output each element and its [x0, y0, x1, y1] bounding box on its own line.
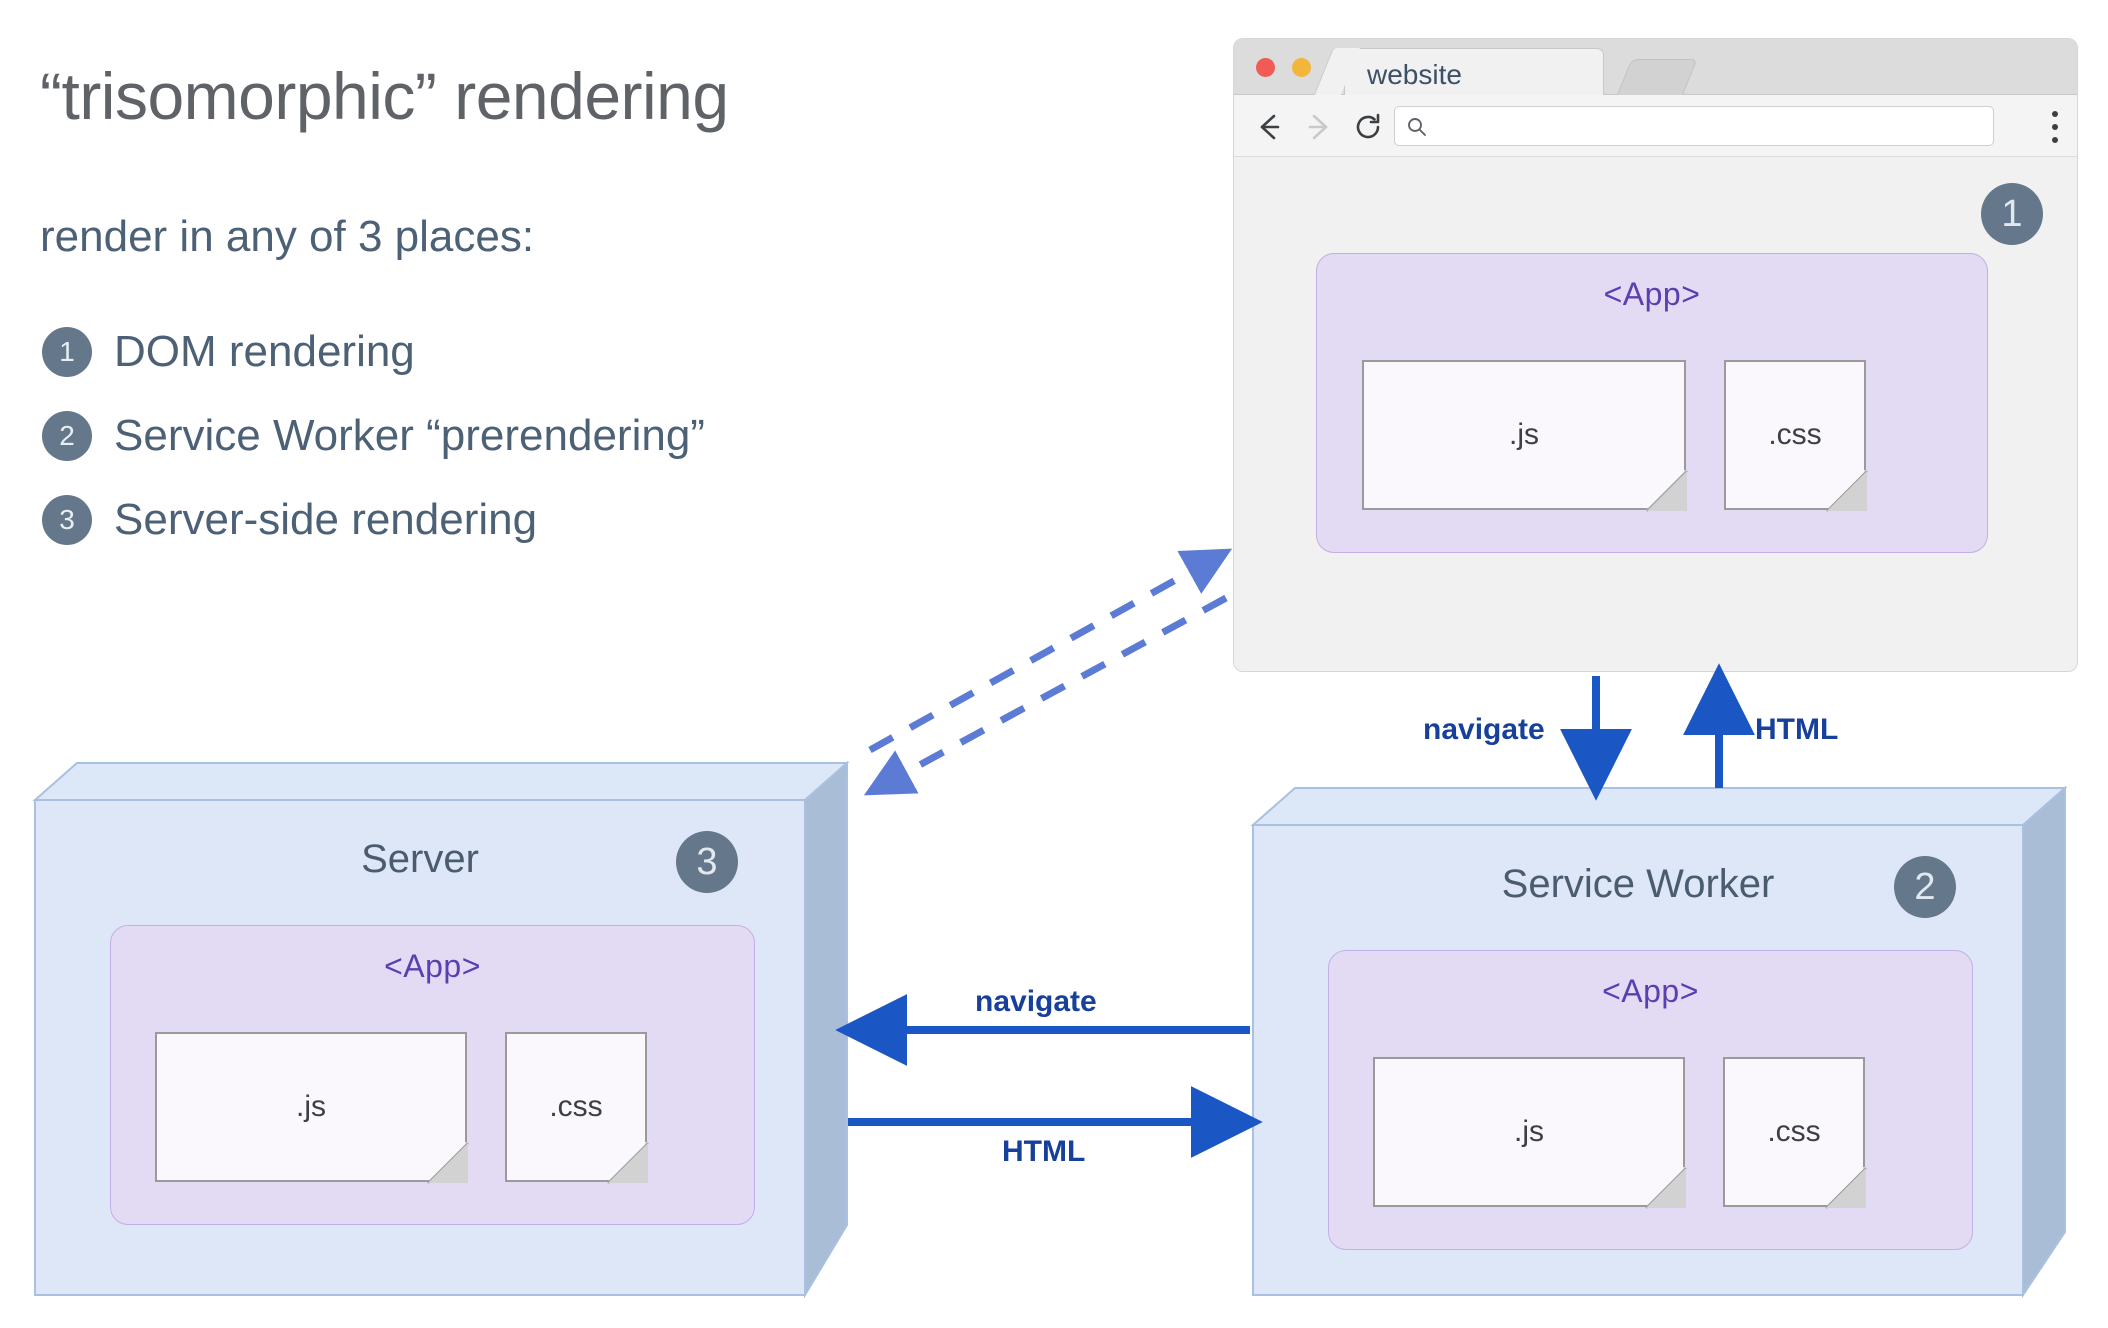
- js-document-card: .js: [1373, 1057, 1683, 1205]
- list-item: 3 Server-side rendering: [42, 478, 705, 562]
- step-badge-service-worker: 2: [1894, 856, 1956, 918]
- server-box: Server 3 <App> .js .css: [35, 755, 847, 1295]
- app-panel-service-worker: <App> .js .css: [1328, 950, 1973, 1250]
- list-number-badge: 1: [42, 327, 92, 377]
- search-icon: [1406, 116, 1428, 138]
- js-document-card: .js: [155, 1032, 465, 1180]
- browser-window: website: [1233, 38, 2078, 672]
- back-arrow-icon[interactable]: [1254, 111, 1286, 143]
- app-panel-label: <App>: [111, 926, 754, 985]
- minimize-window-light[interactable]: [1292, 58, 1311, 77]
- js-document-label: .js: [1514, 1115, 1544, 1149]
- arrow-label-html-mid: HTML: [1002, 1135, 1085, 1169]
- document-group: .js .css: [1373, 1057, 1863, 1205]
- css-document-label: .css: [549, 1090, 602, 1124]
- render-places-list: 1 DOM rendering 2 Service Worker “preren…: [42, 310, 705, 562]
- browser-tabstrip: website: [1234, 39, 2077, 95]
- browser-tab-inactive[interactable]: [1617, 59, 1698, 96]
- list-item: 1 DOM rendering: [42, 310, 705, 394]
- css-document-label: .css: [1768, 418, 1821, 452]
- browser-tab-label: website: [1367, 59, 1462, 91]
- app-panel-label: <App>: [1317, 254, 1987, 313]
- list-number-badge: 2: [42, 411, 92, 461]
- css-document-card: .css: [1723, 1057, 1863, 1205]
- arrow-label-navigate-top: navigate: [1423, 713, 1545, 747]
- app-panel-browser: <App> .js: [1316, 253, 1988, 553]
- arrow-label-navigate-mid: navigate: [975, 985, 1097, 1019]
- list-number-badge: 3: [42, 495, 92, 545]
- diagram-canvas: “trisomorphic” rendering render in any o…: [0, 0, 2108, 1328]
- list-item-label: DOM rendering: [114, 327, 415, 377]
- document-group: .js .css: [155, 1032, 645, 1180]
- address-bar[interactable]: [1394, 106, 1994, 146]
- step-badge-browser: 1: [1981, 183, 2043, 245]
- app-panel-server: <App> .js .css: [110, 925, 755, 1225]
- browser-viewport: 1 <App> .js: [1234, 157, 2077, 672]
- js-document-label: .js: [296, 1090, 326, 1124]
- js-document-label: .js: [1509, 418, 1539, 452]
- list-item: 2 Service Worker “prerendering”: [42, 394, 705, 478]
- page-subtitle: render in any of 3 places:: [40, 212, 534, 262]
- list-item-label: Service Worker “prerendering”: [114, 411, 705, 461]
- css-document-card: .css: [1724, 360, 1864, 508]
- app-panel-label: <App>: [1329, 951, 1972, 1010]
- list-item-label: Server-side rendering: [114, 495, 537, 545]
- close-window-light[interactable]: [1256, 58, 1275, 77]
- browser-toolbar: [1234, 95, 2077, 157]
- three-dot-menu-icon[interactable]: [2051, 111, 2059, 143]
- step-badge-server: 3: [676, 831, 738, 893]
- document-group: .js .css: [1362, 360, 1864, 508]
- arrow-label-html-top: HTML: [1755, 713, 1838, 747]
- dashed-arrow-server-to-browser: [870, 552, 1226, 792]
- browser-tab-website[interactable]: website: [1344, 48, 1604, 96]
- page-title: “trisomorphic” rendering: [40, 58, 729, 134]
- js-document-card: .js: [1362, 360, 1684, 508]
- css-document-card: .css: [505, 1032, 645, 1180]
- reload-icon[interactable]: [1352, 111, 1384, 143]
- forward-arrow-icon[interactable]: [1302, 111, 1334, 143]
- service-worker-box: Service Worker 2 <App> .js: [1253, 780, 2065, 1295]
- css-document-label: .css: [1767, 1115, 1820, 1149]
